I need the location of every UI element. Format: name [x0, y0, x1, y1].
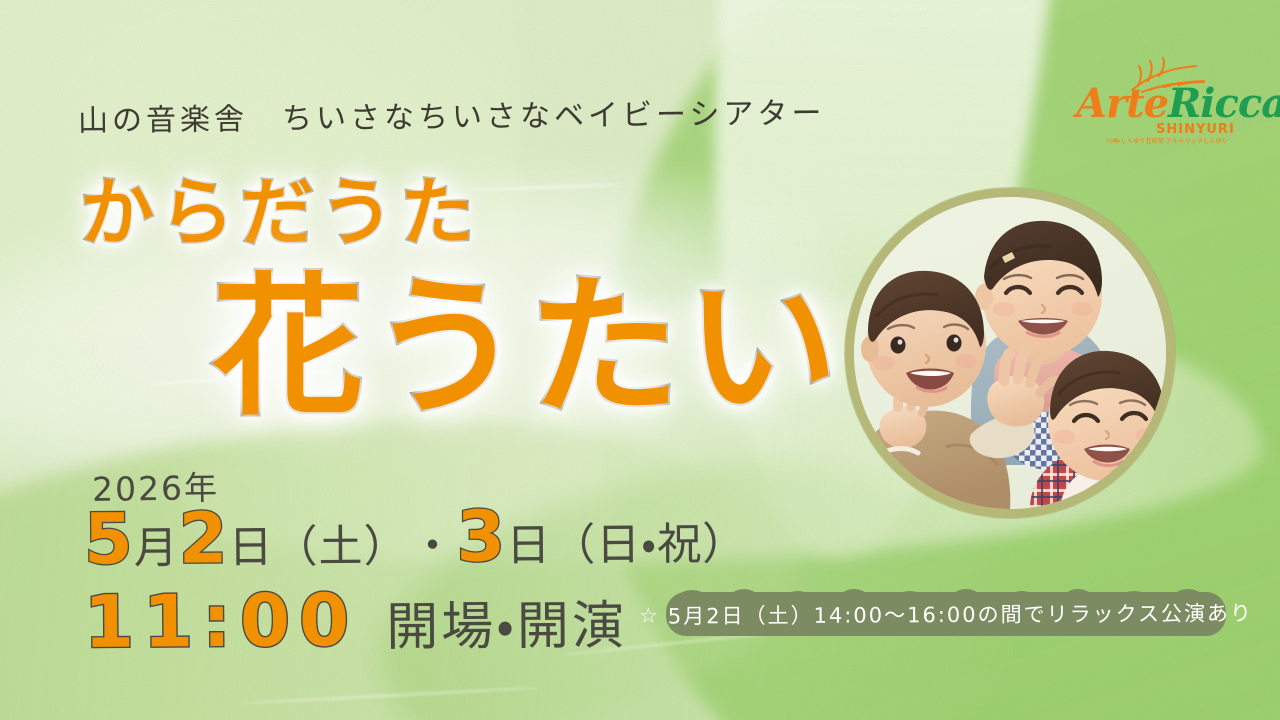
poster-canvas: 山の音楽舎 ちいさなちいさなベイビーシアター ArteRicca SHINYUR…: [0, 0, 1280, 720]
photo-clip: [854, 197, 1166, 509]
month-kanji: 月: [134, 527, 179, 571]
open-perform-label: 開場・開演: [386, 600, 627, 654]
three-babies-illustration: [854, 197, 1166, 509]
logo-shinyuri-text: SHINYURI: [1156, 122, 1235, 137]
arte-ricca-logo: ArteRicca SHINYURI 川崎・しんゆり芸術祭 アルテリッチしんゆり: [1068, 60, 1248, 152]
logo-ricca-text: Ricca: [1168, 80, 1280, 127]
title-hanautai: 花うたい: [212, 272, 844, 424]
time-line: 11:00 開場・開演: [84, 582, 627, 658]
banner-label: ☆ 5月2日（土）14:00〜16:00の間でリラックス公演あり: [648, 586, 1244, 641]
star-icon: ☆: [639, 603, 660, 627]
banner-message: 5月2日（土）14:00〜16:00の間でリラックス公演あり: [668, 597, 1253, 630]
date-line: 5 月 2 日（土） ・ 3 日（日・祝）: [84, 500, 748, 577]
day2-kanji: 日（日・祝）: [506, 523, 747, 569]
date-separator: ・: [408, 510, 456, 574]
day2-number: 3: [456, 501, 506, 571]
month-number: 5: [84, 504, 134, 574]
logo-caption-text: 川崎・しんゆり芸術祭 アルテリッチしんゆり: [1106, 136, 1228, 145]
start-time: 11:00: [84, 584, 359, 658]
day1-number: 2: [178, 503, 228, 573]
relax-performance-banner: ☆ 5月2日（土）14:00〜16:00の間でリラックス公演あり: [648, 588, 1244, 640]
baby-photo: [845, 188, 1175, 518]
logo-wordmark: ArteRicca: [1076, 84, 1280, 124]
poster-subtitle: 山の音楽舎 ちいさなちいさなベイビーシアター: [78, 88, 826, 140]
logo-arte-text: Arte: [1076, 80, 1168, 127]
title-karadauta: からだうた: [80, 176, 480, 250]
day1-kanji: 日（土）: [228, 525, 408, 570]
